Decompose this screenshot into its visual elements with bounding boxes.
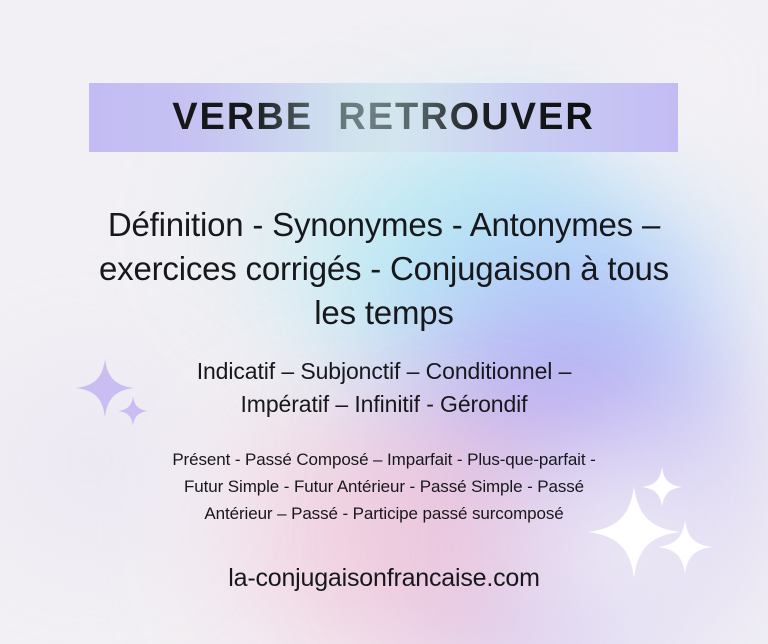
headline: Définition - Synonymes - Antonymes – exe…: [44, 203, 724, 335]
headline-line-1: Définition - Synonymes - Antonymes –: [44, 203, 724, 247]
poster-canvas: VERBE RETROUVER Définition - Synonymes -…: [0, 0, 768, 644]
title-banner: VERBE RETROUVER: [89, 83, 678, 152]
verb-tenses-line-2: Futur Simple - Futur Antérieur - Passé S…: [74, 473, 694, 500]
headline-line-2: exercices corrigés - Conjugaison à tous: [44, 247, 724, 291]
verb-tenses-line-3: Antérieur – Passé - Participe passé surc…: [74, 500, 694, 527]
site-url[interactable]: la-conjugaisonfrancaise.com: [84, 561, 684, 595]
headline-line-3: les temps: [44, 291, 724, 335]
verb-modes-line-1: Indicatif – Subjonctif – Conditionnel –: [74, 355, 694, 388]
verb-tenses-line-1: Présent - Passé Composé – Imparfait - Pl…: [74, 446, 694, 473]
verb-tenses-list: Présent - Passé Composé – Imparfait - Pl…: [74, 446, 694, 527]
verb-modes-line-2: Impératif – Infinitif - Gérondif: [74, 388, 694, 421]
verb-modes-list: Indicatif – Subjonctif – Conditionnel – …: [74, 355, 694, 421]
page-title: VERBE RETROUVER: [172, 96, 595, 139]
